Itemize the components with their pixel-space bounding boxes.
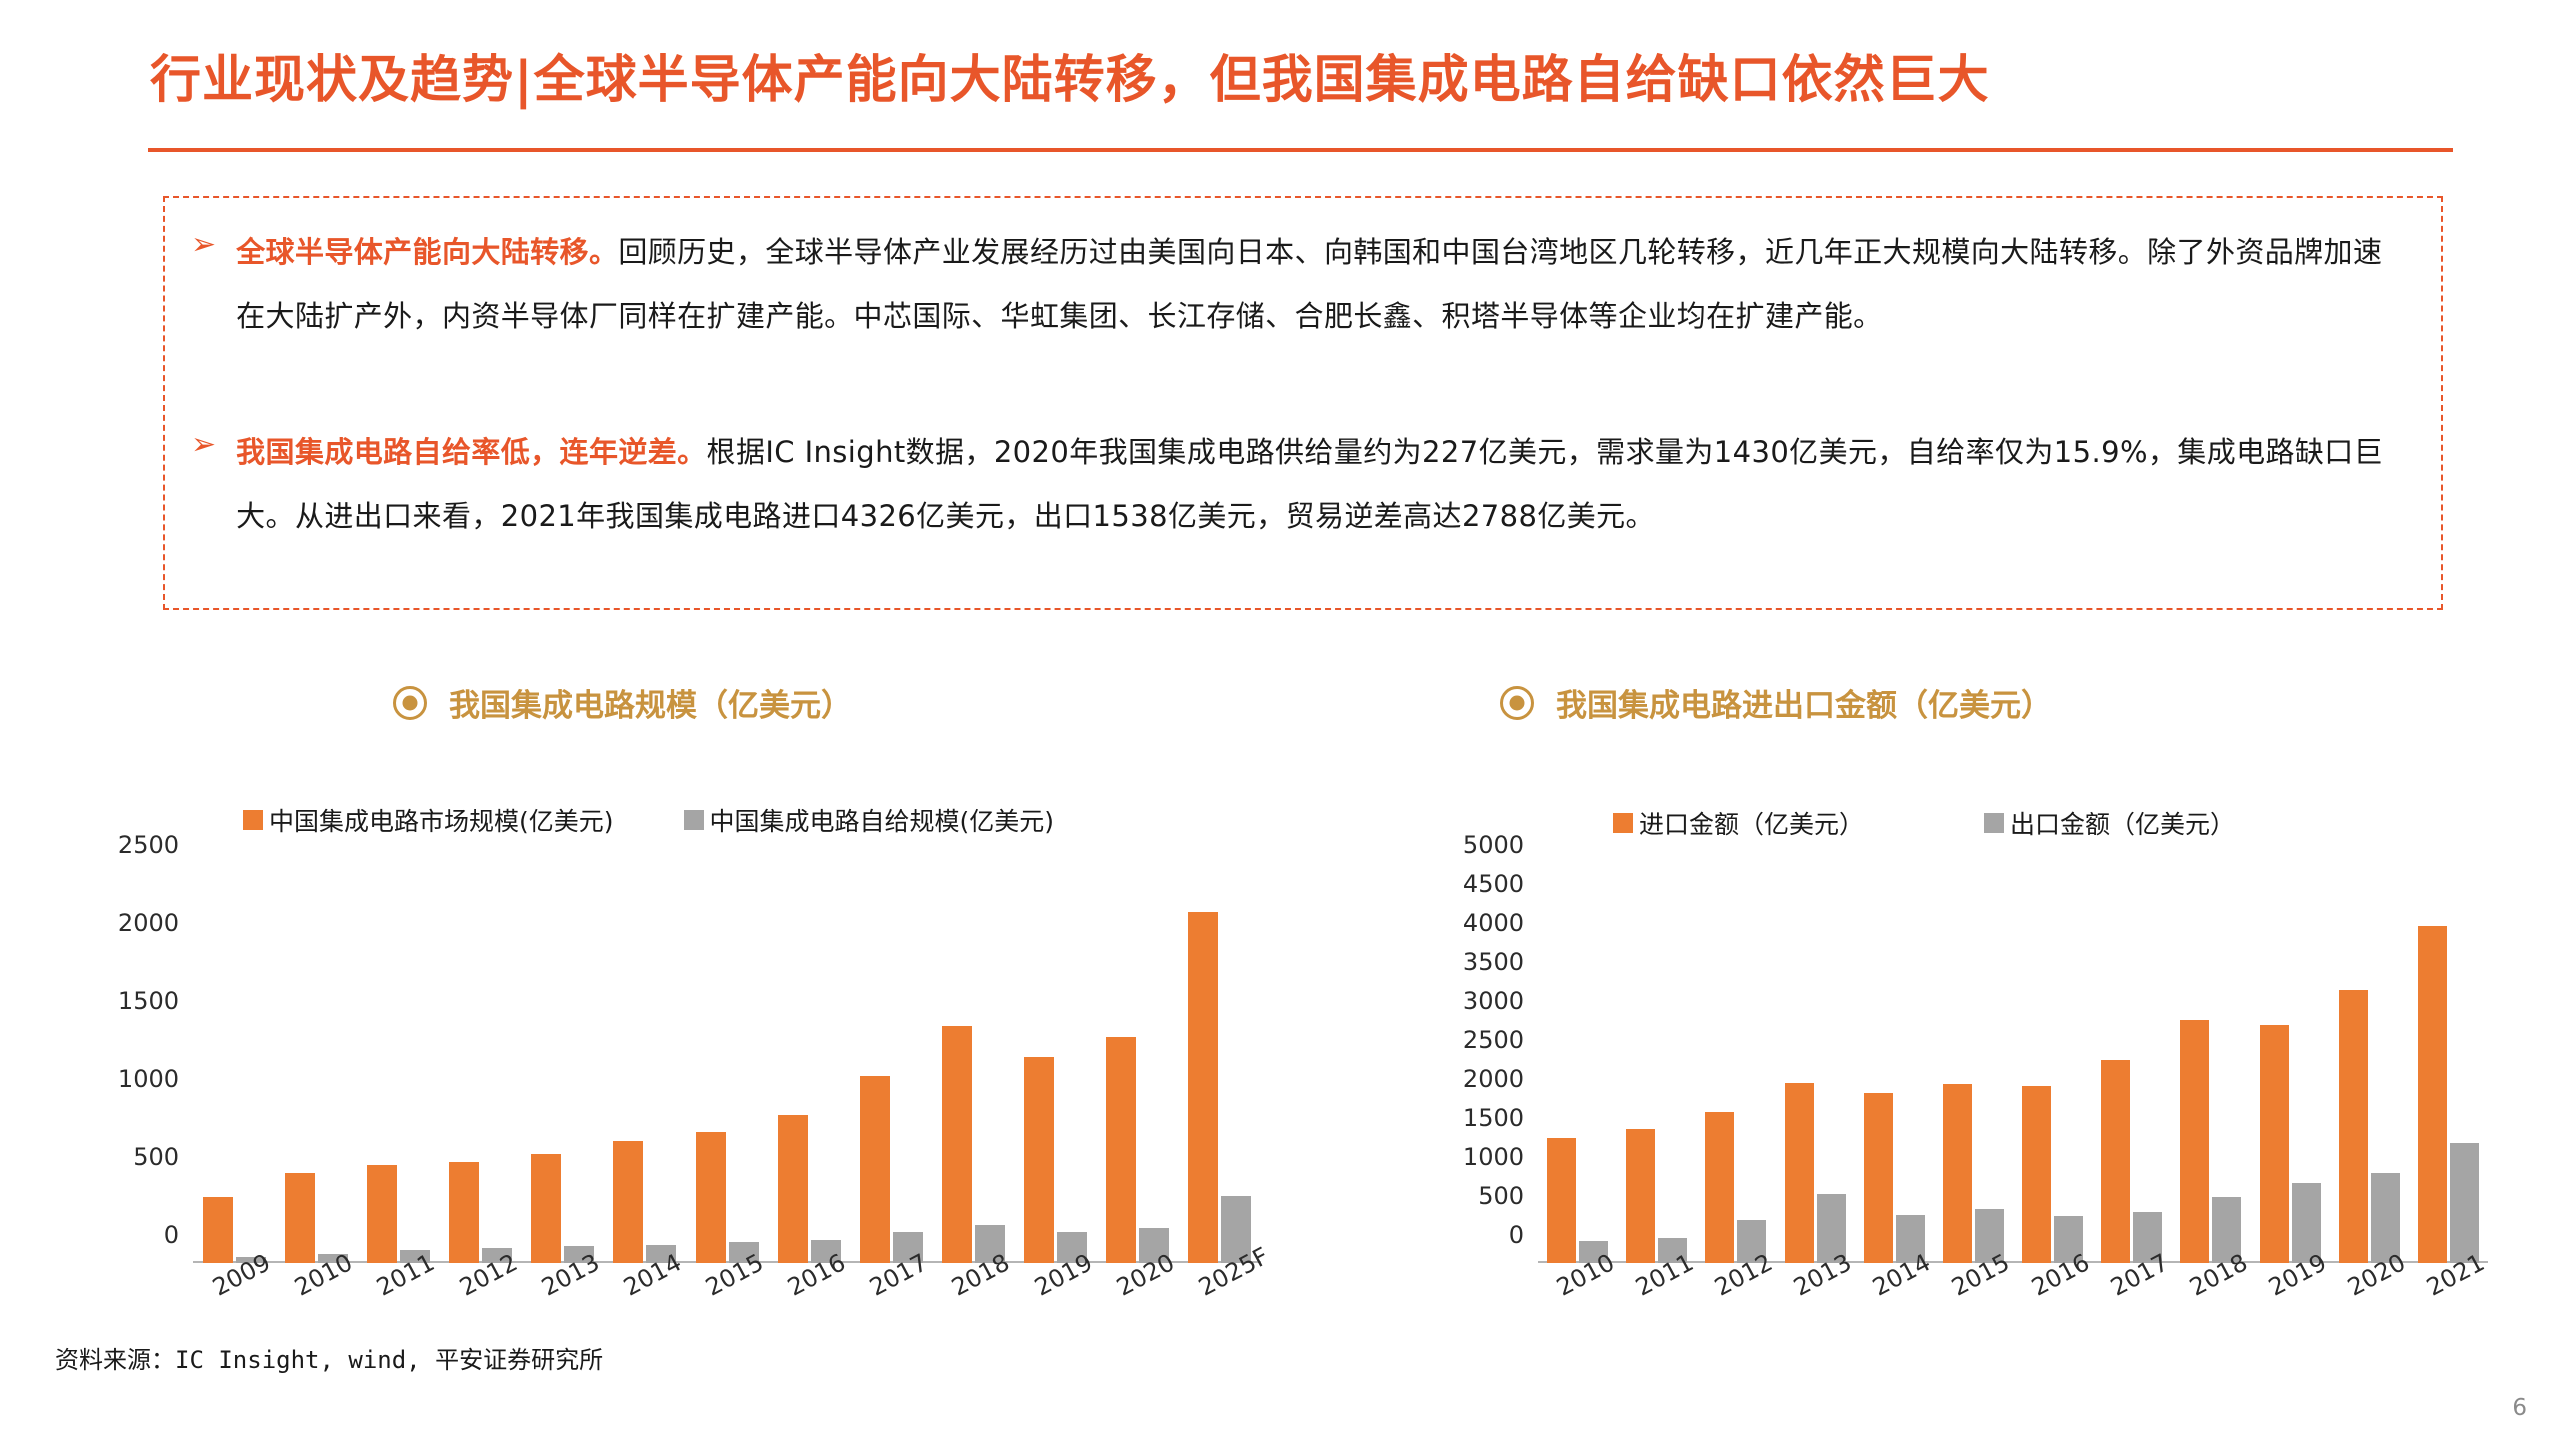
bar-group: 2010: [1538, 873, 1617, 1263]
legend-label: 出口金额（亿美元）: [2010, 805, 2235, 841]
bar: [1106, 1037, 1136, 1263]
legend-label: 进口金额（亿美元）: [1639, 805, 1864, 841]
bar-group: 2011: [357, 873, 439, 1263]
bar-series-container: 2010201120122013201420152016201720182019…: [1538, 873, 2488, 1263]
bar-group: 2017: [2092, 873, 2171, 1263]
bar: [613, 1141, 643, 1263]
chart-right-legend: 进口金额（亿美元） 出口金额（亿美元）: [1613, 805, 2235, 841]
bar: [942, 1026, 972, 1263]
legend-swatch-icon: [1984, 813, 2004, 833]
y-axis-tick-label: 2000: [1463, 1065, 1524, 1093]
bullet-item-1: ➢ 全球半导体产能向大陆转移。回顾历史，全球半导体产业发展经历过由美国向日本、向…: [191, 220, 2411, 348]
bar-group: 2014: [604, 873, 686, 1263]
bullet-arrow-icon: ➢: [191, 220, 216, 260]
y-axis-tick-label: 500: [133, 1143, 179, 1171]
bar-group: 2016: [2013, 873, 2092, 1263]
bar: [285, 1173, 315, 1263]
bullet-1-highlight: 全球半导体产能向大陆转移。: [236, 235, 618, 269]
bar: [2418, 926, 2447, 1263]
bar: [1626, 1129, 1655, 1263]
bullet-arrow-icon: ➢: [191, 420, 216, 460]
y-axis-tick-label: 2500: [1463, 1026, 1524, 1054]
bar-group: 2015: [1934, 873, 2013, 1263]
legend-swatch-icon: [1613, 813, 1633, 833]
bar-group: 2025F: [1179, 873, 1261, 1263]
y-axis-tick-label: 1000: [118, 1065, 179, 1093]
y-axis-tick-label: 1500: [118, 987, 179, 1015]
bullseye-icon: [393, 686, 427, 720]
bar: [2260, 1025, 2289, 1263]
bullet-item-2: ➢ 我国集成电路自给率低，连年逆差。根据IC Insight数据，2020年我国…: [191, 420, 2411, 548]
legend-item-self-supply: 中国集成电路自给规模(亿美元): [684, 802, 1055, 838]
title-underline-rule: [148, 148, 2453, 152]
chart-header-right-label: 我国集成电路进出口金额（亿美元）: [1556, 680, 2052, 725]
bar-group: 2013: [522, 873, 604, 1263]
bar-group: 2014: [1855, 873, 1934, 1263]
bullseye-icon: [1500, 686, 1534, 720]
bar: [449, 1162, 479, 1263]
legend-label: 中国集成电路市场规模(亿美元): [269, 802, 614, 838]
bar: [1024, 1057, 1054, 1263]
bar: [367, 1165, 397, 1263]
source-note: 资料来源：IC Insight, wind, 平安证券研究所: [55, 1340, 603, 1375]
bar-group: 2016: [768, 873, 850, 1263]
legend-swatch-icon: [243, 810, 263, 830]
bar-group: 2021: [2409, 873, 2488, 1263]
chart-header-left-label: 我国集成电路规模（亿美元）: [449, 680, 852, 725]
plot-area: 05001000150020002500 2009201020112012201…: [193, 873, 1261, 1263]
bar-series-container: 2009201020112012201320142015201620172018…: [193, 873, 1261, 1263]
y-axis-tick-label: 1500: [1463, 1104, 1524, 1132]
bar-group: 2012: [1696, 873, 1775, 1263]
y-axis-tick-label: 2000: [118, 909, 179, 937]
bar: [531, 1154, 561, 1263]
page-title: 行业现状及趋势|全球半导体产能向大陆转移，但我国集成电路自给缺口依然巨大: [150, 52, 2450, 111]
bar: [1864, 1093, 1893, 1263]
y-axis-tick-label: 2500: [118, 831, 179, 859]
y-axis-tick-label: 4500: [1463, 870, 1524, 898]
legend-item-export: 出口金额（亿美元）: [1984, 805, 2235, 841]
bar-group: 2020: [2330, 873, 2409, 1263]
bar: [2339, 990, 2368, 1263]
bar: [203, 1197, 233, 1263]
bar-group: 2010: [275, 873, 357, 1263]
bar: [2022, 1086, 2051, 1263]
chart-left-legend: 中国集成电路市场规模(亿美元) 中国集成电路自给规模(亿美元): [243, 802, 1054, 838]
y-axis-tick-label: 500: [1478, 1182, 1524, 1210]
bullet-2-text: 我国集成电路自给率低，连年逆差。根据IC Insight数据，2020年我国集成…: [236, 420, 2411, 548]
bar: [2101, 1060, 2130, 1263]
bar: [696, 1132, 726, 1263]
bar-group: 2018: [932, 873, 1014, 1263]
legend-item-import: 进口金额（亿美元）: [1613, 805, 1864, 841]
bar-group: 2018: [2171, 873, 2250, 1263]
legend-item-market-size: 中国集成电路市场规模(亿美元): [243, 802, 614, 838]
bar: [1547, 1138, 1576, 1263]
bar: [2450, 1143, 2479, 1263]
chart-header-right: 我国集成电路进出口金额（亿美元）: [1500, 680, 2052, 725]
y-axis-tick-label: 4000: [1463, 909, 1524, 937]
page-title-block: 行业现状及趋势|全球半导体产能向大陆转移，但我国集成电路自给缺口依然巨大: [150, 52, 2450, 111]
y-axis-tick-label: 5000: [1463, 831, 1524, 859]
bullet-2-highlight: 我国集成电路自给率低，连年逆差。: [236, 435, 706, 469]
chart-header-left: 我国集成电路规模（亿美元）: [393, 680, 852, 725]
bar-group: 2019: [2251, 873, 2330, 1263]
bar-group: 2012: [439, 873, 521, 1263]
bar: [1943, 1084, 1972, 1263]
bar: [778, 1115, 808, 1263]
bar-group: 2009: [193, 873, 275, 1263]
bar: [1705, 1112, 1734, 1263]
legend-label: 中国集成电路自给规模(亿美元): [710, 802, 1055, 838]
bullet-1-text: 全球半导体产能向大陆转移。回顾历史，全球半导体产业发展经历过由美国向日本、向韩国…: [236, 220, 2411, 348]
y-axis-tick-label: 3500: [1463, 948, 1524, 976]
bar: [1785, 1083, 1814, 1263]
page-number: 6: [2512, 1395, 2527, 1421]
bar: [2180, 1020, 2209, 1263]
bar-group: 2019: [1015, 873, 1097, 1263]
chart-ic-market-size: 05001000150020002500 2009201020112012201…: [55, 865, 1275, 1305]
y-axis-tick-label: 3000: [1463, 987, 1524, 1015]
y-axis-tick-label: 0: [164, 1221, 179, 1249]
bar-group: 2020: [1097, 873, 1179, 1263]
y-axis-tick-label: 1000: [1463, 1143, 1524, 1171]
y-axis-tick-label: 0: [1509, 1221, 1524, 1249]
bar: [1188, 912, 1218, 1263]
chart-ic-import-export: 0500100015002000250030003500400045005000…: [1390, 865, 2510, 1305]
bar-group: 2015: [686, 873, 768, 1263]
bar: [860, 1076, 890, 1263]
bar-group: 2013: [1776, 873, 1855, 1263]
bar-group: 2017: [850, 873, 932, 1263]
legend-swatch-icon: [684, 810, 704, 830]
plot-area: 0500100015002000250030003500400045005000…: [1538, 873, 2488, 1263]
summary-dashed-box: ➢ 全球半导体产能向大陆转移。回顾历史，全球半导体产业发展经历过由美国向日本、向…: [163, 196, 2443, 610]
bar-group: 2011: [1617, 873, 1696, 1263]
